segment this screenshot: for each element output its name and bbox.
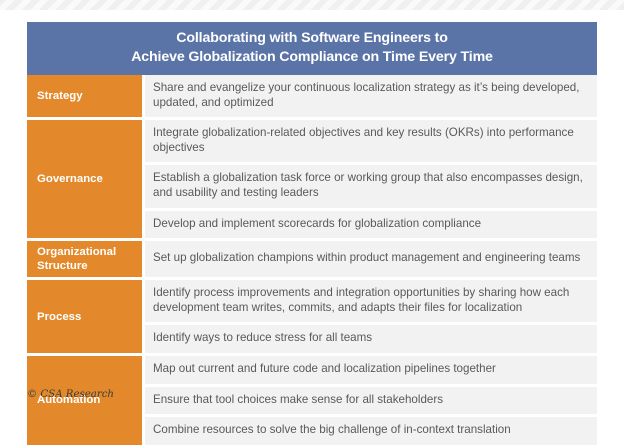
recommendation-cell: Develop and implement scorecards for glo… — [145, 211, 597, 242]
figure-title-line-2: Achieve Globalization Compliance on Time… — [37, 48, 587, 67]
figure-container: Collaborating with Software Engineers to… — [27, 22, 597, 448]
figure-title: Collaborating with Software Engineers to… — [27, 22, 597, 75]
copyright-credit: © CSA Research — [27, 389, 114, 400]
recommendation-cell: Share and evangelize your continuous loc… — [145, 75, 597, 120]
recommendation-cell: Ensure that tool choices make sense for … — [145, 387, 597, 418]
table-row: Organizational StructureSet up globaliza… — [27, 241, 597, 280]
category-cell: Process — [27, 280, 145, 356]
category-cell: Strategy — [27, 75, 145, 120]
category-cell: Governance — [27, 120, 145, 241]
recommendation-cell: Combine resources to solve the big chall… — [145, 417, 597, 448]
recommendation-cell: Set up globalization champions within pr… — [145, 241, 597, 280]
diagonal-stripe-band — [0, 0, 624, 10]
recommendation-cell: Establish a globalization task force or … — [145, 165, 597, 210]
recommendation-cell: Identify ways to reduce stress for all t… — [145, 325, 597, 356]
recommendation-cell: Identify process improvements and integr… — [145, 280, 597, 325]
recommendation-cell: Map out current and future code and loca… — [145, 356, 597, 387]
figure-title-line-1: Collaborating with Software Engineers to — [37, 29, 587, 48]
table-row: ProcessIdentify process improvements and… — [27, 280, 597, 325]
recommendation-cell: Integrate globalization-related objectiv… — [145, 120, 597, 165]
category-cell: Organizational Structure — [27, 241, 145, 280]
table-row: GovernanceIntegrate globalization-relate… — [27, 120, 597, 165]
table-row: AutomationMap out current and future cod… — [27, 356, 597, 387]
table-row: StrategyShare and evangelize your contin… — [27, 75, 597, 120]
category-cell: Automation — [27, 356, 145, 448]
